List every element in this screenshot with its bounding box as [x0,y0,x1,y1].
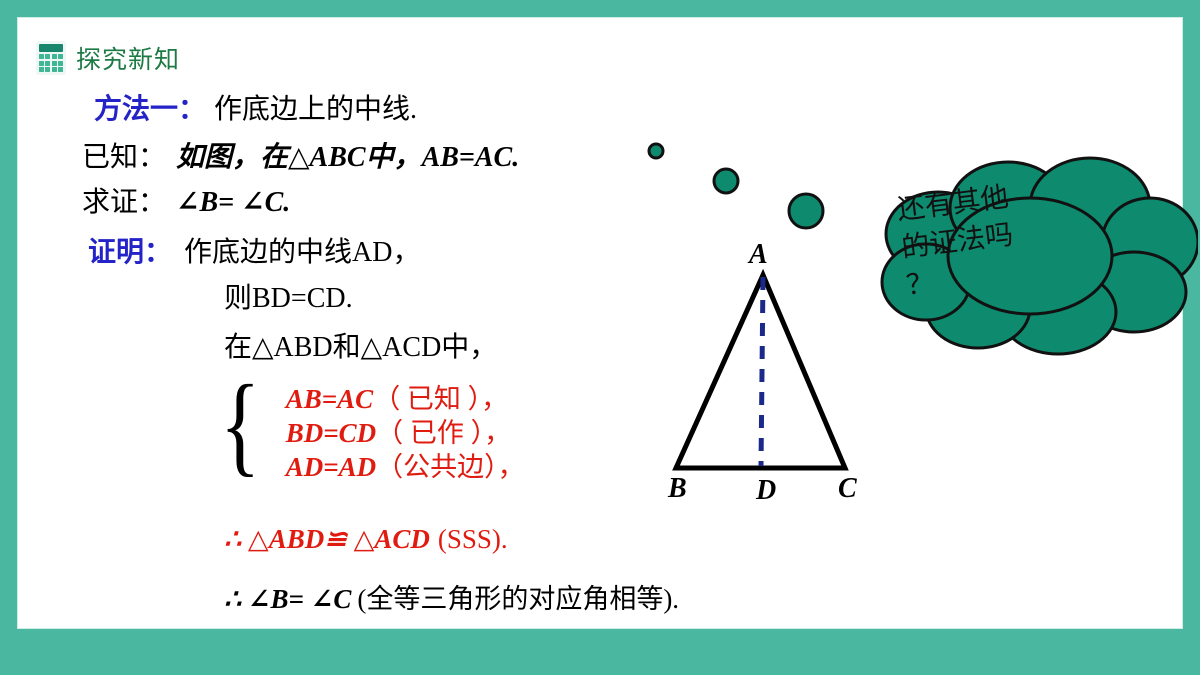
condition-expr-1: AB=AC [286,384,373,414]
slide-frame: 探究新知 方法一： 作底边上的中线. 已知： 如图，在△ABC中，AB=AC. … [0,0,1200,675]
method-label: 方法一： [94,96,206,124]
condition-reason-2: （ 已作 ）， [376,418,511,448]
prove-label: 求证： [82,189,166,217]
condition-reason-3: （公共边）， [376,452,525,482]
vertex-label-c: C [838,473,857,505]
then-text: 则BD=CD. [224,285,353,313]
trail-dot-small [649,144,663,158]
condition-row-2: BD=CD（ 已作 ）， [286,420,525,447]
line-conclusion-congruent: ∴ △ABD≌ △ACD (SSS). [224,526,508,553]
left-brace: { [220,377,260,481]
line-then: 则BD=CD. [224,285,353,313]
line-in-triangles: 在△ABD和△ACD中， [224,334,497,362]
calculator-screen [39,44,63,52]
in-triangles-text: 在△ABD和△ACD中， [224,334,497,362]
congruence-conditions-list: AB=AC（ 已知 ）， BD=CD（ 已作 ）， AD=AD（公共边）， [268,383,525,481]
line-prove: 求证： ∠B= ∠C. [82,189,290,217]
thought-bubble-text: 还有其他 的证法吗 ？ [895,167,1107,305]
method-text: 作底边上的中线. [214,96,417,124]
given-label: 已知： [82,144,166,172]
thought-trail-dots [649,144,823,228]
calculator-icon [36,41,66,75]
slide-page: 探究新知 方法一： 作底边上的中线. 已知： 如图，在△ABC中，AB=AC. … [18,18,1182,628]
calculator-keys [39,54,63,72]
conclusion-1-expr: ∴ △ABD≌ △ACD [224,526,430,553]
condition-row-1: AB=AC（ 已知 ）， [286,386,525,413]
line-given: 已知： 如图，在△ABC中，AB=AC. [82,144,519,172]
condition-expr-2: BD=CD [286,418,376,448]
line-conclusion-angles: ∴ ∠B= ∠C (全等三角形的对应角相等). [224,586,679,613]
vertex-label-d: D [756,475,776,507]
proof-label: 证明： [88,239,172,267]
conclusion-2-reason: (全等三角形的对应角相等). [357,586,679,613]
condition-row-3: AD=AD（公共边）， [286,454,525,481]
page-title: 探究新知 [76,40,180,76]
proof-construction-text: 作底边的中线AD， [184,239,420,267]
condition-reason-1: （ 已知 ）， [373,384,508,414]
trail-dot-large [789,194,823,228]
line-proof-start: 证明： 作底边的中线AD， [88,239,420,267]
vertex-label-b: B [668,473,687,505]
given-text: 如图，在△ABC中，AB=AC. [176,144,519,172]
trail-dot-medium [714,169,738,193]
condition-expr-3: AD=AD [286,452,376,482]
section-header: 探究新知 [36,40,180,76]
conclusion-1-reason: (SSS). [438,526,508,553]
thought-bubble: 还有其他 的证法吗 ？ [638,136,1198,376]
congruence-conditions-group: { AB=AC（ 已知 ）， BD=CD（ 已作 ）， AD=AD（公共边）， [220,383,525,481]
conclusion-2-expr: ∴ ∠B= ∠C [224,586,351,613]
prove-text: ∠B= ∠C. [176,189,290,217]
line-method: 方法一： 作底边上的中线. [94,96,417,124]
